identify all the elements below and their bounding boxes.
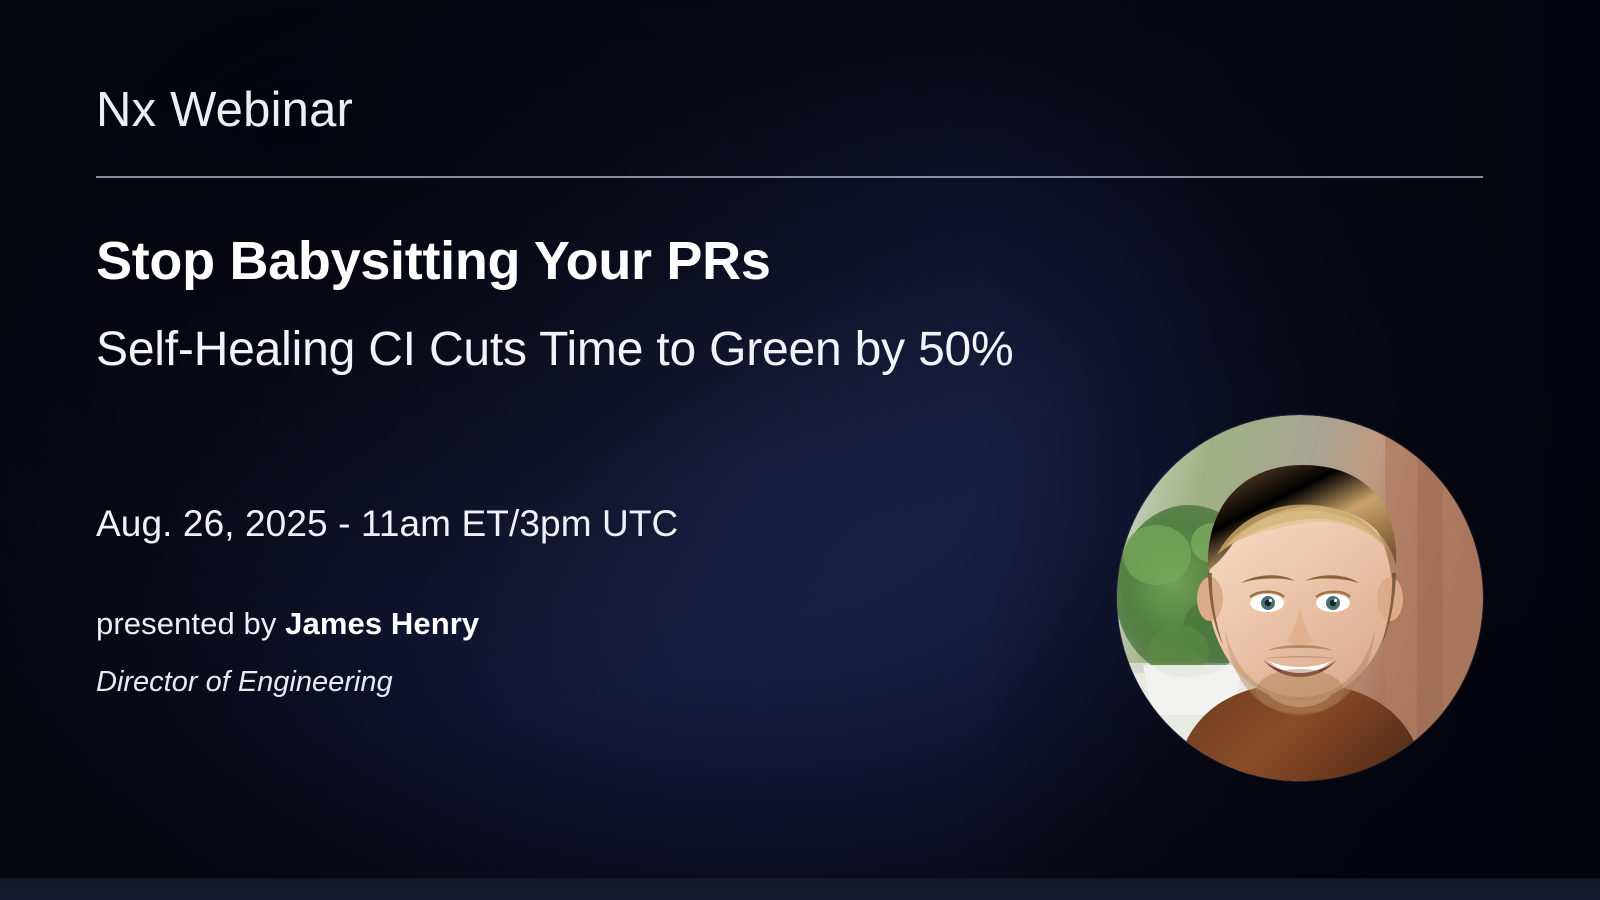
presenter-line: presented by James Henry [96,608,479,639]
header-divider [96,176,1483,178]
presenter-role: Director of Engineering [96,668,393,697]
eyebrow-label: Nx Webinar [96,86,353,135]
page-subtitle: Self-Healing CI Cuts Time to Green by 50… [96,314,1096,385]
presenter-name: James Henry [285,606,479,641]
speaker-headshot-icon [1117,415,1483,781]
event-datetime: Aug. 26, 2025 - 11am ET/3pm UTC [96,505,678,542]
presented-by-label: presented by [96,606,285,641]
page-title: Stop Babysitting Your PRs [96,232,771,290]
webinar-banner: Nx Webinar Stop Babysitting Your PRs Sel… [0,0,1600,900]
